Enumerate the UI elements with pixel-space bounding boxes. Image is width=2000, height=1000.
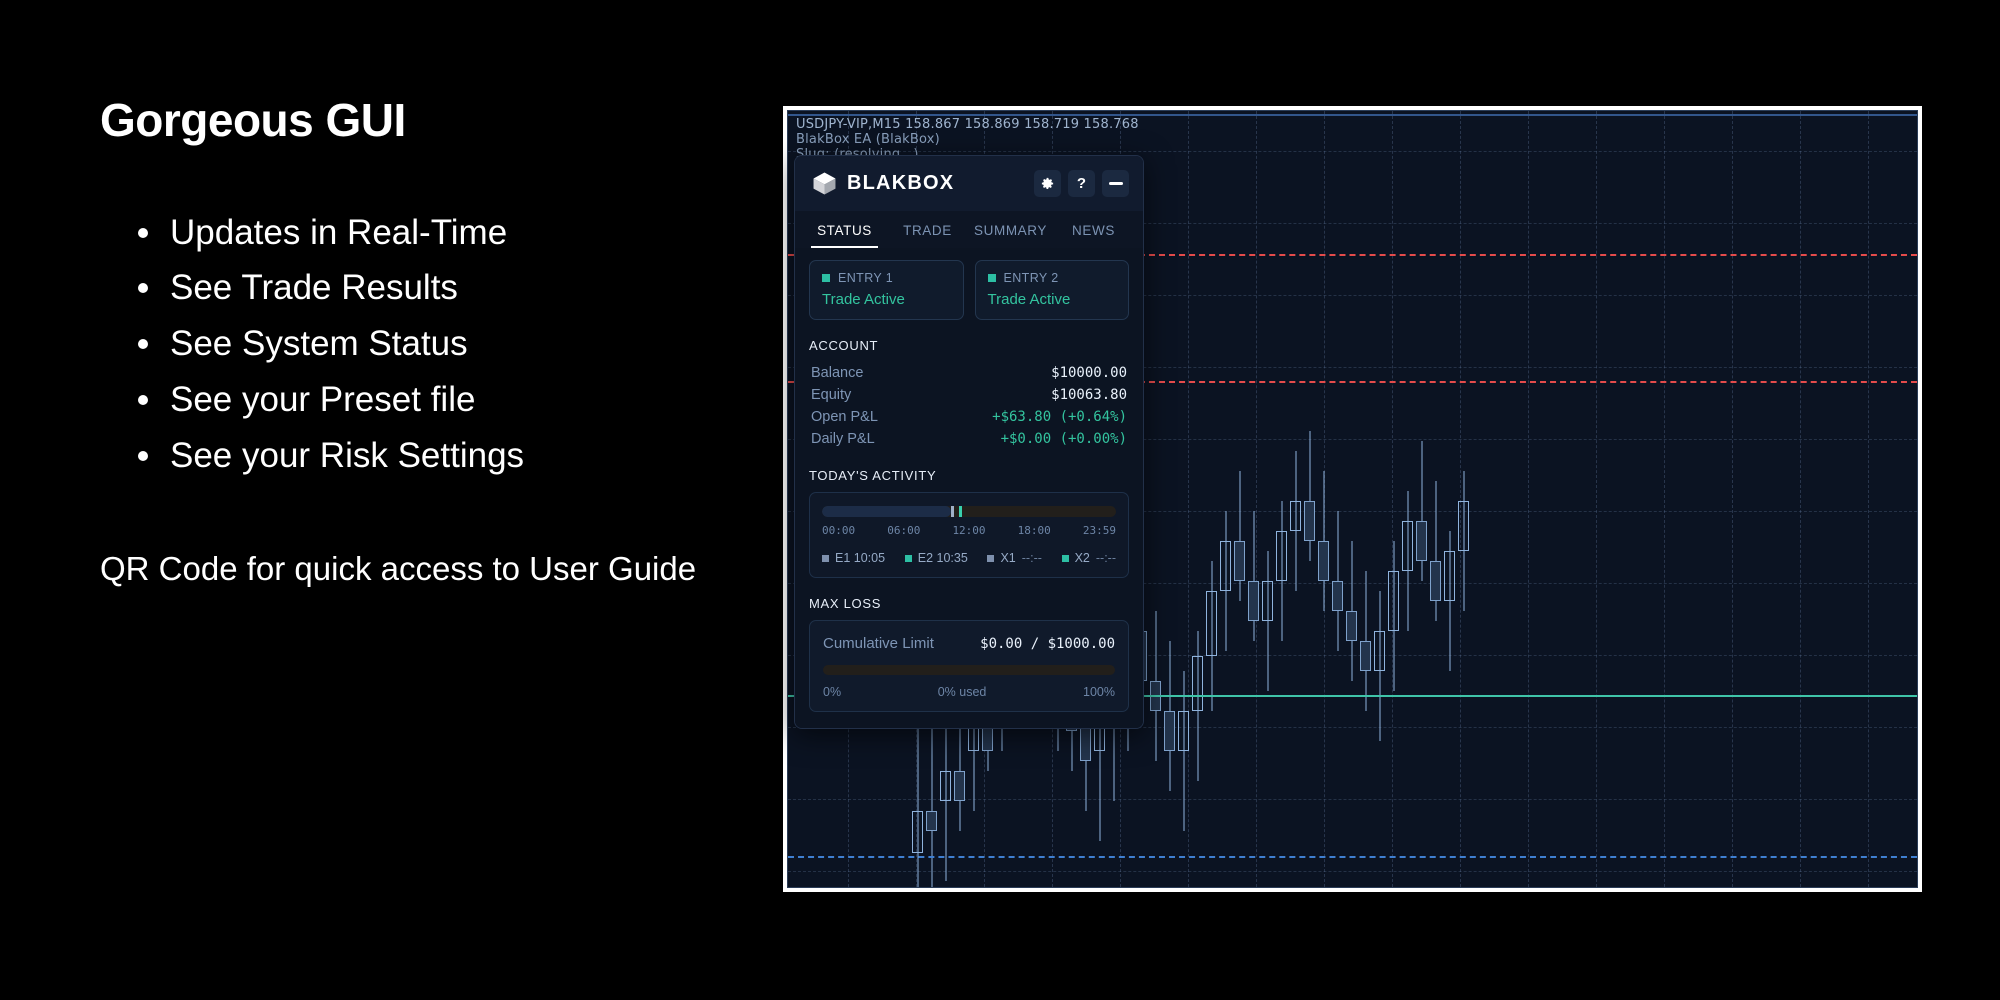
candle-body (926, 811, 937, 831)
candlestick (1458, 111, 1469, 887)
entry-cards: ENTRY 1 Trade Active ENTRY 2 Trade Activ… (809, 260, 1129, 320)
entry-1-status: Trade Active (822, 291, 951, 308)
entry-2-status: Trade Active (988, 291, 1117, 308)
timeline-fill (822, 506, 951, 517)
candle-wick (1239, 471, 1240, 601)
candle-body (1332, 581, 1343, 611)
max-loss-row: Cumulative Limit $0.00 / $1000.00 (823, 635, 1115, 652)
row-value: +$63.80 (+0.64%) (992, 409, 1127, 425)
max-loss-card: Cumulative Limit $0.00 / $1000.00 0% 0% … (809, 620, 1129, 712)
candlestick (1402, 111, 1413, 887)
candle-body (1248, 581, 1259, 621)
candle-wick (1253, 511, 1254, 641)
candlestick (1430, 111, 1441, 887)
row-key: Balance (811, 365, 863, 381)
row-value: +$0.00 (+0.00%) (1001, 431, 1127, 447)
feature-list: Updates in Real-Time See Trade Results S… (100, 210, 760, 479)
list-item: Updates in Real-Time (100, 210, 760, 256)
row-value: $10000.00 (1051, 365, 1127, 381)
max-loss-label: Cumulative Limit (823, 635, 934, 652)
candle-body (1304, 501, 1315, 541)
candle-body (954, 771, 965, 801)
candlestick (1290, 111, 1301, 887)
brand-name: BLAKBOX (847, 172, 954, 195)
candle-body (1220, 541, 1231, 591)
candlestick (1276, 111, 1287, 887)
tick-label: 18:00 (1018, 524, 1051, 537)
chart-symbol-label: USDJPY-VIP,M15 158.867 158.869 158.719 1… (796, 117, 1139, 132)
candle-body (1318, 541, 1329, 581)
panel-body: ENTRY 1 Trade Active ENTRY 2 Trade Activ… (795, 248, 1143, 728)
max-loss-footer: 0% 0% used 100% (823, 685, 1115, 699)
minus-glyph (1109, 182, 1123, 185)
timeline-marker-e1 (951, 506, 954, 517)
candle-body (912, 811, 923, 853)
marketing-column: Gorgeous GUI Updates in Real-Time See Tr… (100, 95, 760, 592)
screenshot-root: Gorgeous GUI Updates in Real-Time See Tr… (0, 0, 2000, 1000)
account-row-balance: Balance $10000.00 (809, 362, 1129, 384)
candlestick (1332, 111, 1343, 887)
gear-glyph (1040, 176, 1055, 191)
activity-section-title: TODAY'S ACTIVITY (809, 468, 1129, 483)
blakbox-ea-panel: BLAKBOX ? STATUS TRADE SUMMARY NEWS (794, 155, 1144, 729)
max-loss-value: $0.00 / $1000.00 (980, 636, 1115, 652)
activity-card: 00:00 06:00 12:00 18:00 23:59 E1 10:05 E… (809, 492, 1129, 578)
candlestick (1444, 111, 1455, 887)
account-row-open-pnl: Open P&L +$63.80 (+0.64%) (809, 406, 1129, 428)
candlestick (1164, 111, 1175, 887)
candle-body (1346, 611, 1357, 641)
account-row-daily-pnl: Daily P&L +$0.00 (+0.00%) (809, 428, 1129, 450)
list-item-label: See your Preset file (170, 380, 475, 419)
entry-1-header: ENTRY 1 (822, 271, 951, 285)
candlestick (1262, 111, 1273, 887)
legend-square-icon (1062, 555, 1069, 562)
entry-2-label: ENTRY 2 (1004, 271, 1059, 285)
candlestick (1150, 111, 1161, 887)
legend-item-e1: E1 10:05 (822, 551, 885, 565)
panel-header: BLAKBOX ? (795, 156, 1143, 211)
legend-square-icon (905, 555, 912, 562)
tab-news[interactable]: NEWS (1052, 211, 1135, 248)
panel-header-buttons: ? (1034, 170, 1129, 197)
candle-body (1402, 521, 1413, 571)
candle-body (1178, 711, 1189, 751)
tick-label: 06:00 (887, 524, 920, 537)
candlestick (1416, 111, 1427, 887)
candle-body (1430, 561, 1441, 601)
candle-body (1416, 521, 1427, 561)
question-mark-icon[interactable]: ? (1068, 170, 1095, 197)
candle-body (1262, 581, 1273, 621)
chart-ea-label: BlakBox EA (BlakBox) (796, 132, 1139, 147)
bullet-dot-icon (138, 451, 148, 461)
candle-body (1276, 531, 1287, 581)
candle-body (1234, 541, 1245, 581)
candlestick (1192, 111, 1203, 887)
candle-body (1374, 631, 1385, 671)
legend-label: X1 (1000, 551, 1015, 565)
candlestick (1206, 111, 1217, 887)
candle-wick (1309, 431, 1310, 561)
list-item: See System Status (100, 321, 760, 367)
candle-body (1290, 501, 1301, 531)
bullet-dot-icon (138, 395, 148, 405)
legend-item-x1: X1 --:-- (987, 551, 1041, 565)
price-line-3 (788, 856, 1917, 858)
candle-body (1164, 711, 1175, 751)
list-item: See your Preset file (100, 377, 760, 423)
list-item-label: See System Status (170, 324, 468, 363)
row-key: Daily P&L (811, 431, 875, 447)
page-title: Gorgeous GUI (100, 95, 760, 146)
candle-body (1192, 656, 1203, 711)
entry-card-1[interactable]: ENTRY 1 Trade Active (809, 260, 964, 320)
status-square-icon (822, 274, 830, 282)
bullet-dot-icon (138, 228, 148, 238)
bullet-dot-icon (138, 283, 148, 293)
row-key: Open P&L (811, 409, 878, 425)
candlestick (1374, 111, 1385, 887)
activity-timeline[interactable] (822, 506, 1116, 517)
legend-square-icon (987, 555, 994, 562)
account-row-equity: Equity $10063.80 (809, 384, 1129, 406)
max-loss-min: 0% (823, 685, 841, 699)
candle-body (1206, 591, 1217, 656)
tick-label: 12:00 (952, 524, 985, 537)
tick-label: 00:00 (822, 524, 855, 537)
legend-label: X2 (1075, 551, 1090, 565)
account-section-title: ACCOUNT (809, 338, 1129, 353)
candlestick (1234, 111, 1245, 887)
candle-wick (931, 711, 932, 888)
candlestick (1220, 111, 1231, 887)
legend-time: --:-- (1022, 551, 1042, 565)
tab-status[interactable]: STATUS (803, 211, 886, 248)
max-loss-max: 100% (1083, 685, 1115, 699)
candlestick (1304, 111, 1315, 887)
candle-wick (1267, 551, 1268, 691)
entry-1-label: ENTRY 1 (838, 271, 893, 285)
legend-item-x2: X2 --:-- (1062, 551, 1116, 565)
list-item-label: See your Risk Settings (170, 436, 524, 475)
tick-label: 23:59 (1083, 524, 1116, 537)
tab-trade[interactable]: TRADE (886, 211, 969, 248)
max-loss-progress (823, 665, 1115, 675)
qr-note: QR Code for quick access to User Guide (100, 547, 720, 592)
list-item-label: See Trade Results (170, 268, 458, 307)
legend-label: E1 10:05 (835, 551, 885, 565)
candle-body (1444, 551, 1455, 601)
gear-icon[interactable] (1034, 170, 1061, 197)
list-item: See your Risk Settings (100, 433, 760, 479)
status-square-icon (988, 274, 996, 282)
minimize-icon[interactable] (1102, 170, 1129, 197)
list-item-label: Updates in Real-Time (170, 213, 507, 252)
legend-square-icon (822, 555, 829, 562)
candlestick (1318, 111, 1329, 887)
max-loss-section-title: MAX LOSS (809, 596, 1129, 611)
panel-logo: BLAKBOX (811, 170, 954, 197)
candle-body (940, 771, 951, 801)
panel-tabs: STATUS TRADE SUMMARY NEWS (795, 211, 1143, 248)
account-rows: Balance $10000.00 Equity $10063.80 Open … (809, 362, 1129, 450)
legend-label: E2 10:35 (918, 551, 968, 565)
candlestick (1388, 111, 1399, 887)
tab-summary[interactable]: SUMMARY (969, 211, 1052, 248)
candlestick (1248, 111, 1259, 887)
row-key: Equity (811, 387, 851, 403)
timeline-marker-e2 (959, 506, 962, 517)
candlestick (1178, 111, 1189, 887)
legend-item-e2: E2 10:35 (905, 551, 968, 565)
legend-time: --:-- (1096, 551, 1116, 565)
entry-2-header: ENTRY 2 (988, 271, 1117, 285)
timeline-ticks: 00:00 06:00 12:00 18:00 23:59 (822, 524, 1116, 537)
entry-card-2[interactable]: ENTRY 2 Trade Active (975, 260, 1130, 320)
bullet-dot-icon (138, 339, 148, 349)
timeline-legend: E1 10:05 E2 10:35 X1 --:-- X2 --:-- (822, 551, 1116, 565)
candle-body (1458, 501, 1469, 551)
row-value: $10063.80 (1051, 387, 1127, 403)
cube-logo-icon (811, 170, 838, 197)
candle-body (1360, 641, 1371, 671)
max-loss-used: 0% used (938, 685, 987, 699)
candle-body (1388, 571, 1399, 631)
candlestick (1360, 111, 1371, 887)
list-item: See Trade Results (100, 265, 760, 311)
candlestick (1346, 111, 1357, 887)
